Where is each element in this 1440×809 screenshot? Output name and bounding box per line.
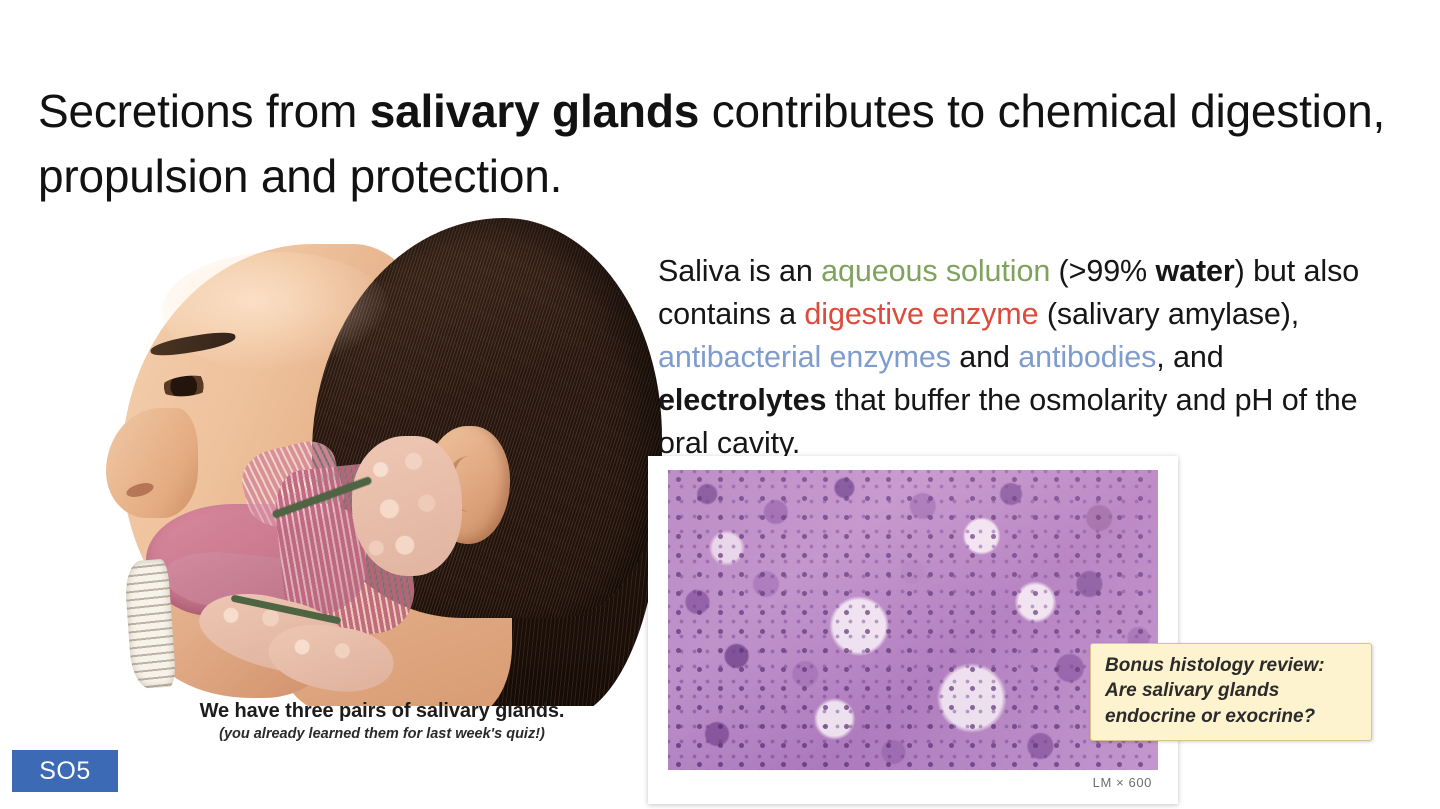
callout-line-2: Are salivary glands	[1105, 678, 1359, 703]
salivary-gland-micrograph	[668, 470, 1158, 770]
term-electrolytes: electrolytes	[658, 383, 826, 417]
title-emphasis: salivary glands	[370, 85, 699, 137]
callout-line-3: endocrine or exocrine?	[1105, 704, 1359, 729]
term-digestive-enzyme: digestive enzyme	[804, 297, 1038, 331]
anatomy-caption-main: We have three pairs of salivary glands.	[102, 700, 662, 723]
term-water: water	[1155, 254, 1234, 288]
forehead-highlight	[162, 252, 392, 372]
callout-line-1: Bonus histology review:	[1105, 653, 1359, 678]
histology-figure: LM × 600	[648, 456, 1178, 804]
anatomy-figure: We have three pairs of salivary glands. …	[102, 208, 662, 706]
micrograph-stain-tint	[668, 470, 1158, 770]
parotid-gland	[352, 436, 462, 576]
anatomy-caption: We have three pairs of salivary glands. …	[102, 700, 662, 742]
status-badge: SO5	[12, 750, 118, 792]
nose	[106, 408, 198, 518]
title-part-1: Secretions from	[38, 85, 370, 137]
term-aqueous-solution: aqueous solution	[821, 254, 1050, 288]
page-title: Secretions from salivary glands contribu…	[38, 79, 1408, 210]
term-antibacterial-enzymes: antibacterial enzymes	[658, 340, 951, 374]
micrograph-magnification-label: LM × 600	[1093, 775, 1152, 790]
objective-badge-label: SO5	[39, 757, 91, 786]
paragraph-seg-2: (>99%	[1050, 254, 1155, 288]
paragraph-seg-5: and	[951, 340, 1018, 374]
paragraph-seg-6: , and	[1156, 340, 1223, 374]
face-profile-photo	[102, 208, 662, 706]
term-antibodies: antibodies	[1018, 340, 1156, 374]
paragraph-seg-1: Saliva is an	[658, 254, 821, 288]
teeth	[124, 559, 177, 690]
bonus-question-callout: Bonus histology review: Are salivary gla…	[1090, 643, 1372, 741]
saliva-description-paragraph: Saliva is an aqueous solution (>99% wate…	[658, 250, 1388, 465]
paragraph-seg-4: (salivary amylase),	[1038, 297, 1299, 331]
anatomy-caption-sub: (you already learned them for last week'…	[102, 726, 662, 742]
